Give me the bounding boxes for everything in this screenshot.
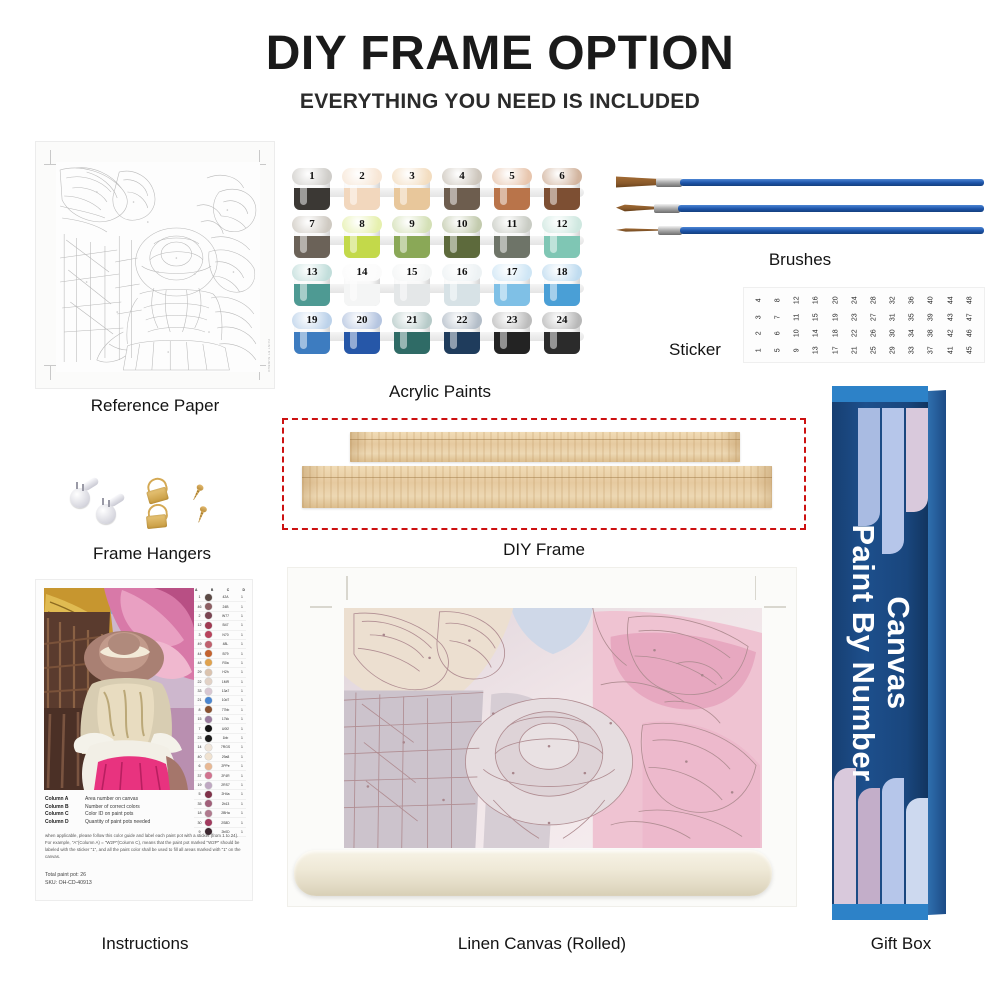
instructions-column-desc: Number of correct colors (85, 804, 140, 810)
paint-pot-rail (296, 332, 584, 341)
reference-paper-item: PAINT BY NUMBER (36, 142, 274, 388)
brush-ferrule (654, 204, 680, 213)
legend-color-swatch (205, 716, 212, 723)
legend-color-id: 2F4R (213, 774, 238, 778)
instructions-item: A B C D 142A14624B12W77112B4713N7014948L… (36, 580, 252, 900)
gift-box-bottom-band (832, 904, 928, 920)
legend-color-id: 24B (213, 605, 238, 609)
legend-row: 2W771 (194, 612, 246, 621)
sticker-number: 13 (808, 340, 825, 359)
wood-miter (714, 432, 740, 462)
caption-frame-hangers: Frame Hangers (36, 544, 268, 564)
paint-pot: 12 (542, 216, 582, 260)
legend-quantity: 1 (239, 698, 245, 702)
legend-color-id: 10d7 (213, 698, 238, 702)
sku-label: SKU: (45, 880, 57, 886)
wood-bar (302, 466, 772, 508)
paint-pot-number: 18 (542, 264, 582, 281)
frame-hangers-item (62, 470, 242, 532)
brush-handle (678, 205, 984, 212)
legend-color-id: 48L (213, 642, 238, 646)
paint-pot: 23 (492, 312, 532, 356)
legend-color-id: 42A (213, 595, 238, 599)
legend-header-c: C (227, 588, 229, 592)
gift-box-panel (858, 788, 880, 904)
paint-pot-number: 3 (392, 168, 432, 185)
legend-color-id: R0a (213, 661, 238, 665)
legend-quantity: 1 (239, 717, 245, 721)
paint-pot-number: 20 (342, 312, 382, 329)
wood-miter (350, 432, 376, 462)
legend-row: 231bb1 (194, 734, 246, 743)
paint-pot-number: 12 (542, 216, 582, 233)
sticker-number: 9 (789, 340, 806, 359)
legend-quantity: 1 (239, 708, 245, 712)
diy-frame-item (282, 418, 806, 530)
paint-pot-number: 23 (492, 312, 532, 329)
infographic-root: DIY FRAME OPTION EVERYTHING YOU NEED IS … (0, 0, 1000, 1000)
canvas-crop-tick (310, 606, 332, 608)
caption-sticker: Sticker (640, 340, 750, 360)
instructions-column-desc: Quantity of paint pots needed (85, 819, 150, 825)
legend-color-swatch (205, 678, 212, 685)
paint-pot-rail (296, 284, 584, 293)
legend-row: 142A1 (194, 593, 246, 602)
legend-row: 877bb1 (194, 706, 246, 715)
paint-brush (616, 224, 984, 236)
legend-color-id: 2RS7 (213, 783, 238, 787)
instructions-column-row: Column BNumber of correct colors (45, 804, 243, 810)
paint-pot: 5 (492, 168, 532, 212)
brush-bristles (616, 228, 660, 232)
paint-pot-row: 192021222324 (292, 312, 588, 358)
legend-quantity: 1 (239, 614, 245, 618)
legend-quantity: 1 (239, 652, 245, 656)
legend-area-number: 48 (195, 661, 204, 665)
hanger-d-ring (143, 475, 171, 504)
legend-area-number: 14 (195, 745, 204, 749)
legend-row: 4624B1 (194, 602, 246, 611)
paint-brush (616, 202, 984, 214)
legend-row: 12B471 (194, 621, 246, 630)
brush-bristles (616, 204, 656, 212)
legend-area-number: 7 (195, 727, 204, 731)
legend-quantity: 1 (239, 755, 245, 759)
wood-bar (350, 432, 740, 462)
legend-area-number: 12 (195, 623, 204, 627)
paint-pot: 4 (442, 168, 482, 212)
legend-color-swatch (205, 631, 212, 638)
instructions-column-row: Column AArea number on canvas (45, 796, 243, 802)
legend-color-id: 2PPe (213, 764, 238, 768)
paint-brush (616, 176, 984, 188)
legend-color-id: 29a8 (213, 755, 238, 759)
paint-pot: 2 (342, 168, 382, 212)
instructions-column-key: Column AArea number on canvasColumn BNum… (45, 796, 243, 826)
sticker-number: 37 (923, 340, 940, 359)
sticker-number: 1 (750, 340, 767, 359)
linen-canvas-item (288, 568, 796, 906)
legend-area-number: 6 (195, 764, 204, 768)
hanger-screw (195, 505, 207, 523)
legend-color-id: 77bb (213, 708, 238, 712)
gift-box-front: Canvas Paint By Number (832, 386, 928, 920)
legend-area-number: 15 (195, 717, 204, 721)
legend-color-swatch (205, 725, 212, 732)
legend-quantity: 1 (239, 736, 245, 740)
caption-gift-box: Gift Box (826, 934, 976, 954)
sticker-number: 25 (865, 340, 882, 359)
paint-pot: 18 (542, 264, 582, 308)
paint-pot: 10 (442, 216, 482, 260)
brush-ferrule (658, 226, 682, 235)
paint-pot-rail (296, 188, 584, 197)
paint-pot: 19 (292, 312, 332, 356)
brush-ferrule (656, 178, 682, 187)
legend-header-b: B (211, 588, 213, 592)
gift-box-title-line1: Canvas (881, 596, 916, 709)
hanger-hook-pin (82, 484, 84, 491)
legend-quantity: 1 (239, 661, 245, 665)
legend-color-swatch (205, 603, 212, 610)
instructions-column-row: Column DQuantity of paint pots needed (45, 819, 243, 825)
sku-line: SKU: OH-CD-40913 (45, 880, 241, 886)
paint-pot-rail (296, 236, 584, 245)
legend-header-a: A (195, 588, 197, 592)
legend-area-number: 22 (195, 680, 204, 684)
legend-quantity: 1 (239, 623, 245, 627)
brush-handle (680, 227, 984, 234)
paint-pot: 17 (492, 264, 532, 308)
legend-row: 48R0a1 (194, 659, 246, 668)
instructions-column-row: Column CColor ID on paint pots (45, 811, 243, 817)
crop-mark (50, 150, 51, 164)
paint-pot-number: 24 (542, 312, 582, 329)
legend-color-id: 1MR (213, 680, 238, 684)
legend-quantity: 1 (239, 727, 245, 731)
screw-shaft (192, 489, 200, 501)
instructions-column-label: Column C (45, 811, 81, 817)
legend-color-swatch (205, 753, 212, 760)
legend-area-number: 21 (195, 698, 204, 702)
paint-pot: 22 (442, 312, 482, 356)
gift-box-panel (834, 768, 856, 904)
paint-pot-number: 4 (442, 168, 482, 185)
gift-box-top-band (832, 386, 928, 402)
gift-box-panel (882, 408, 904, 554)
legend-color-id: U0f2 (213, 727, 238, 731)
sticker-number-grid: 4812162024283236404448371115192327313539… (749, 292, 979, 358)
acrylic-paints-item: 123456789101112131415161718192021222324 (292, 168, 588, 360)
sticker-sheet-item: 4812162024283236404448371115192327313539… (744, 288, 984, 362)
gift-box-panel (906, 798, 928, 904)
legend-color-id: B79 (213, 652, 238, 656)
paint-pot-number: 19 (292, 312, 332, 329)
legend-quantity: 1 (239, 745, 245, 749)
hanger-screw (190, 483, 204, 501)
screw-shaft (197, 511, 204, 523)
legend-area-number: 33 (195, 689, 204, 693)
legend-row: 7U0f21 (194, 724, 246, 733)
legend-color-swatch (205, 706, 212, 713)
paint-pot-number: 21 (392, 312, 432, 329)
paint-pot: 16 (442, 264, 482, 308)
legend-color-swatch (205, 641, 212, 648)
legend-color-id: 7RGS (213, 745, 238, 749)
gift-box-panel (906, 408, 928, 512)
legend-color-id: B47 (213, 623, 238, 627)
wood-groove (302, 477, 772, 478)
caption-reference-paper: Reference Paper (36, 396, 274, 416)
legend-row: 2110d71 (194, 696, 246, 705)
instructions-column-desc: Color ID on paint pots (85, 811, 133, 817)
legend-quantity: 1 (239, 605, 245, 609)
crop-mark (50, 366, 51, 380)
instructions-column-label: Column B (45, 804, 81, 810)
legend-color-id: W77 (213, 614, 238, 618)
paint-pot: 11 (492, 216, 532, 260)
total-paint-pot-label: Total paint pot: (45, 872, 79, 878)
legend-quantity: 1 (239, 642, 245, 646)
sticker-number: 5 (769, 340, 786, 359)
hanger-hook-pin (76, 482, 78, 489)
legend-color-swatch (205, 772, 212, 779)
legend-color-id: N70 (213, 633, 238, 637)
instructions-note: when applicable, please follow this colo… (45, 832, 241, 861)
legend-quantity: 1 (239, 680, 245, 684)
legend-row: 3N701 (194, 631, 246, 640)
page-subtitle: EVERYTHING YOU NEED IS INCLUDED (0, 90, 1000, 114)
hanger-hook-plate (96, 504, 116, 524)
legend-color-swatch (205, 744, 212, 751)
paint-pot: 1 (292, 168, 332, 212)
paint-pot-number: 9 (392, 216, 432, 233)
paint-pot: 21 (392, 312, 432, 356)
legend-color-id: H2h (213, 670, 238, 674)
canvas-crop-tick (764, 606, 786, 608)
wood-miter (302, 466, 328, 508)
paint-pot-row: 123456 (292, 168, 588, 214)
gift-box-panel (858, 408, 880, 526)
legend-area-number: 29 (195, 670, 204, 674)
paint-pot: 9 (392, 216, 432, 260)
paint-pot: 8 (342, 216, 382, 260)
caption-acrylic-paints: Acrylic Paints (292, 382, 588, 402)
legend-row: 147RGS1 (194, 743, 246, 752)
legend-area-number: 8 (195, 708, 204, 712)
brushes-item (616, 172, 984, 252)
hanger-hook-pin (108, 500, 110, 507)
gift-box-item: Canvas Paint By Number (832, 386, 948, 920)
legend-quantity: 1 (239, 689, 245, 693)
legend-color-swatch (205, 612, 212, 619)
legend-area-number: 23 (195, 736, 204, 740)
paint-pot-number: 17 (492, 264, 532, 281)
hanger-d-ring (145, 503, 169, 529)
legend-color-swatch (205, 697, 212, 704)
legend-color-swatch (205, 735, 212, 742)
sticker-number: 41 (942, 340, 959, 359)
legend-color-swatch (205, 669, 212, 676)
page-title: DIY FRAME OPTION (0, 26, 1000, 81)
legend-area-number: 1 (195, 595, 204, 599)
paint-pot: 20 (342, 312, 382, 356)
legend-row: 4029a81 (194, 753, 246, 762)
paint-pot: 13 (292, 264, 332, 308)
legend-row: 29H2h1 (194, 668, 246, 677)
gift-box-title-line2: Paint By Number (846, 524, 881, 781)
sticker-number: 21 (846, 340, 863, 359)
legend-quantity: 1 (239, 633, 245, 637)
sticker-number: 45 (961, 340, 978, 359)
paint-pot: 24 (542, 312, 582, 356)
legend-quantity: 1 (239, 783, 245, 787)
caption-instructions: Instructions (34, 934, 256, 954)
paint-pot-number: 10 (442, 216, 482, 233)
legend-color-swatch (205, 782, 212, 789)
legend-row: 221MR1 (194, 678, 246, 687)
legend-color-id: 13a7 (213, 689, 238, 693)
paint-pot-number: 15 (392, 264, 432, 281)
legend-row: 192RS71 (194, 781, 246, 790)
brush-bristles (616, 176, 658, 189)
canvas-crop-tick (755, 576, 757, 600)
instructions-column-desc: Area number on canvas (85, 796, 138, 802)
total-paint-pot-value: 26 (80, 872, 86, 878)
caption-diy-frame: DIY Frame (282, 540, 806, 560)
legend-area-number: 46 (195, 605, 204, 609)
reference-paper-side-code: PAINT BY NUMBER (267, 339, 271, 372)
paint-pot-number: 8 (342, 216, 382, 233)
legend-row: 4948L1 (194, 640, 246, 649)
legend-color-swatch (205, 622, 212, 629)
legend-area-number: 44 (195, 652, 204, 656)
caption-brushes: Brushes (700, 250, 900, 270)
reference-line-art (56, 162, 260, 372)
paint-pot-number: 22 (442, 312, 482, 329)
paint-pot: 14 (342, 264, 382, 308)
legend-header-d: D (243, 588, 245, 592)
sku-value: OH-CD-40913 (59, 880, 92, 886)
legend-area-number: 49 (195, 642, 204, 646)
paint-pot: 3 (392, 168, 432, 212)
legend-quantity: 1 (239, 774, 245, 778)
legend-quantity: 1 (239, 670, 245, 674)
paint-pot-number: 6 (542, 168, 582, 185)
paint-pot-number: 7 (292, 216, 332, 233)
instructions-column-label: Column D (45, 819, 81, 825)
paint-pot: 7 (292, 216, 332, 260)
hanger-hook-pin (102, 498, 104, 505)
legend-row: 3313a71 (194, 687, 246, 696)
gift-box-side (928, 390, 946, 915)
legend-row: 62PPe1 (194, 762, 246, 771)
legend-color-id: 1bb (213, 736, 238, 740)
reference-paper-sheet: PAINT BY NUMBER (36, 142, 274, 388)
total-paint-pot-line: Total paint pot: 26 (45, 872, 241, 878)
paint-pot-number: 1 (292, 168, 332, 185)
instructions-footer: Total paint pot: 26 SKU: OH-CD-40913 (45, 872, 241, 888)
legend-area-number: 3 (195, 633, 204, 637)
legend-color-swatch (205, 659, 212, 666)
legend-color-id: 17kk (213, 717, 238, 721)
instructions-artwork (44, 588, 194, 790)
paint-pot: 6 (542, 168, 582, 212)
legend-area-number: 19 (195, 783, 204, 787)
legend-color-swatch (205, 688, 212, 695)
paint-pot-number: 16 (442, 264, 482, 281)
paint-pot: 15 (392, 264, 432, 308)
canvas-rolled-edge (294, 850, 772, 896)
instructions-column-label: Column A (45, 796, 81, 802)
paint-pot-number: 11 (492, 216, 532, 233)
legend-area-number: 37 (195, 774, 204, 778)
sticker-number: 33 (904, 340, 921, 359)
legend-color-swatch (205, 650, 212, 657)
sticker-number: 17 (827, 340, 844, 359)
paint-pot-row: 131415161718 (292, 264, 588, 310)
canvas-printed-artwork (344, 608, 762, 848)
paint-pot-number: 14 (342, 264, 382, 281)
wood-groove (350, 439, 740, 440)
legend-area-number: 2 (195, 614, 204, 618)
wood-miter (746, 466, 772, 508)
paint-pot-number: 2 (342, 168, 382, 185)
paint-pot-number: 13 (292, 264, 332, 281)
sticker-number: 29 (884, 340, 901, 359)
legend-row: 372F4R1 (194, 771, 246, 780)
legend-quantity: 1 (239, 764, 245, 768)
legend-color-swatch (205, 763, 212, 770)
legend-row: 44B791 (194, 649, 246, 658)
paint-pot-number: 5 (492, 168, 532, 185)
legend-quantity: 1 (239, 595, 245, 599)
brush-handle (680, 179, 984, 186)
caption-linen-canvas: Linen Canvas (Rolled) (288, 934, 796, 954)
d-ring-plate (146, 514, 167, 529)
legend-row: 1517kk1 (194, 715, 246, 724)
legend-area-number: 40 (195, 755, 204, 759)
gift-box-panel (882, 778, 904, 904)
paint-pot-row: 789101112 (292, 216, 588, 262)
canvas-crop-tick (346, 576, 348, 600)
hanger-hook-plate (70, 488, 90, 508)
legend-color-swatch (205, 594, 212, 601)
